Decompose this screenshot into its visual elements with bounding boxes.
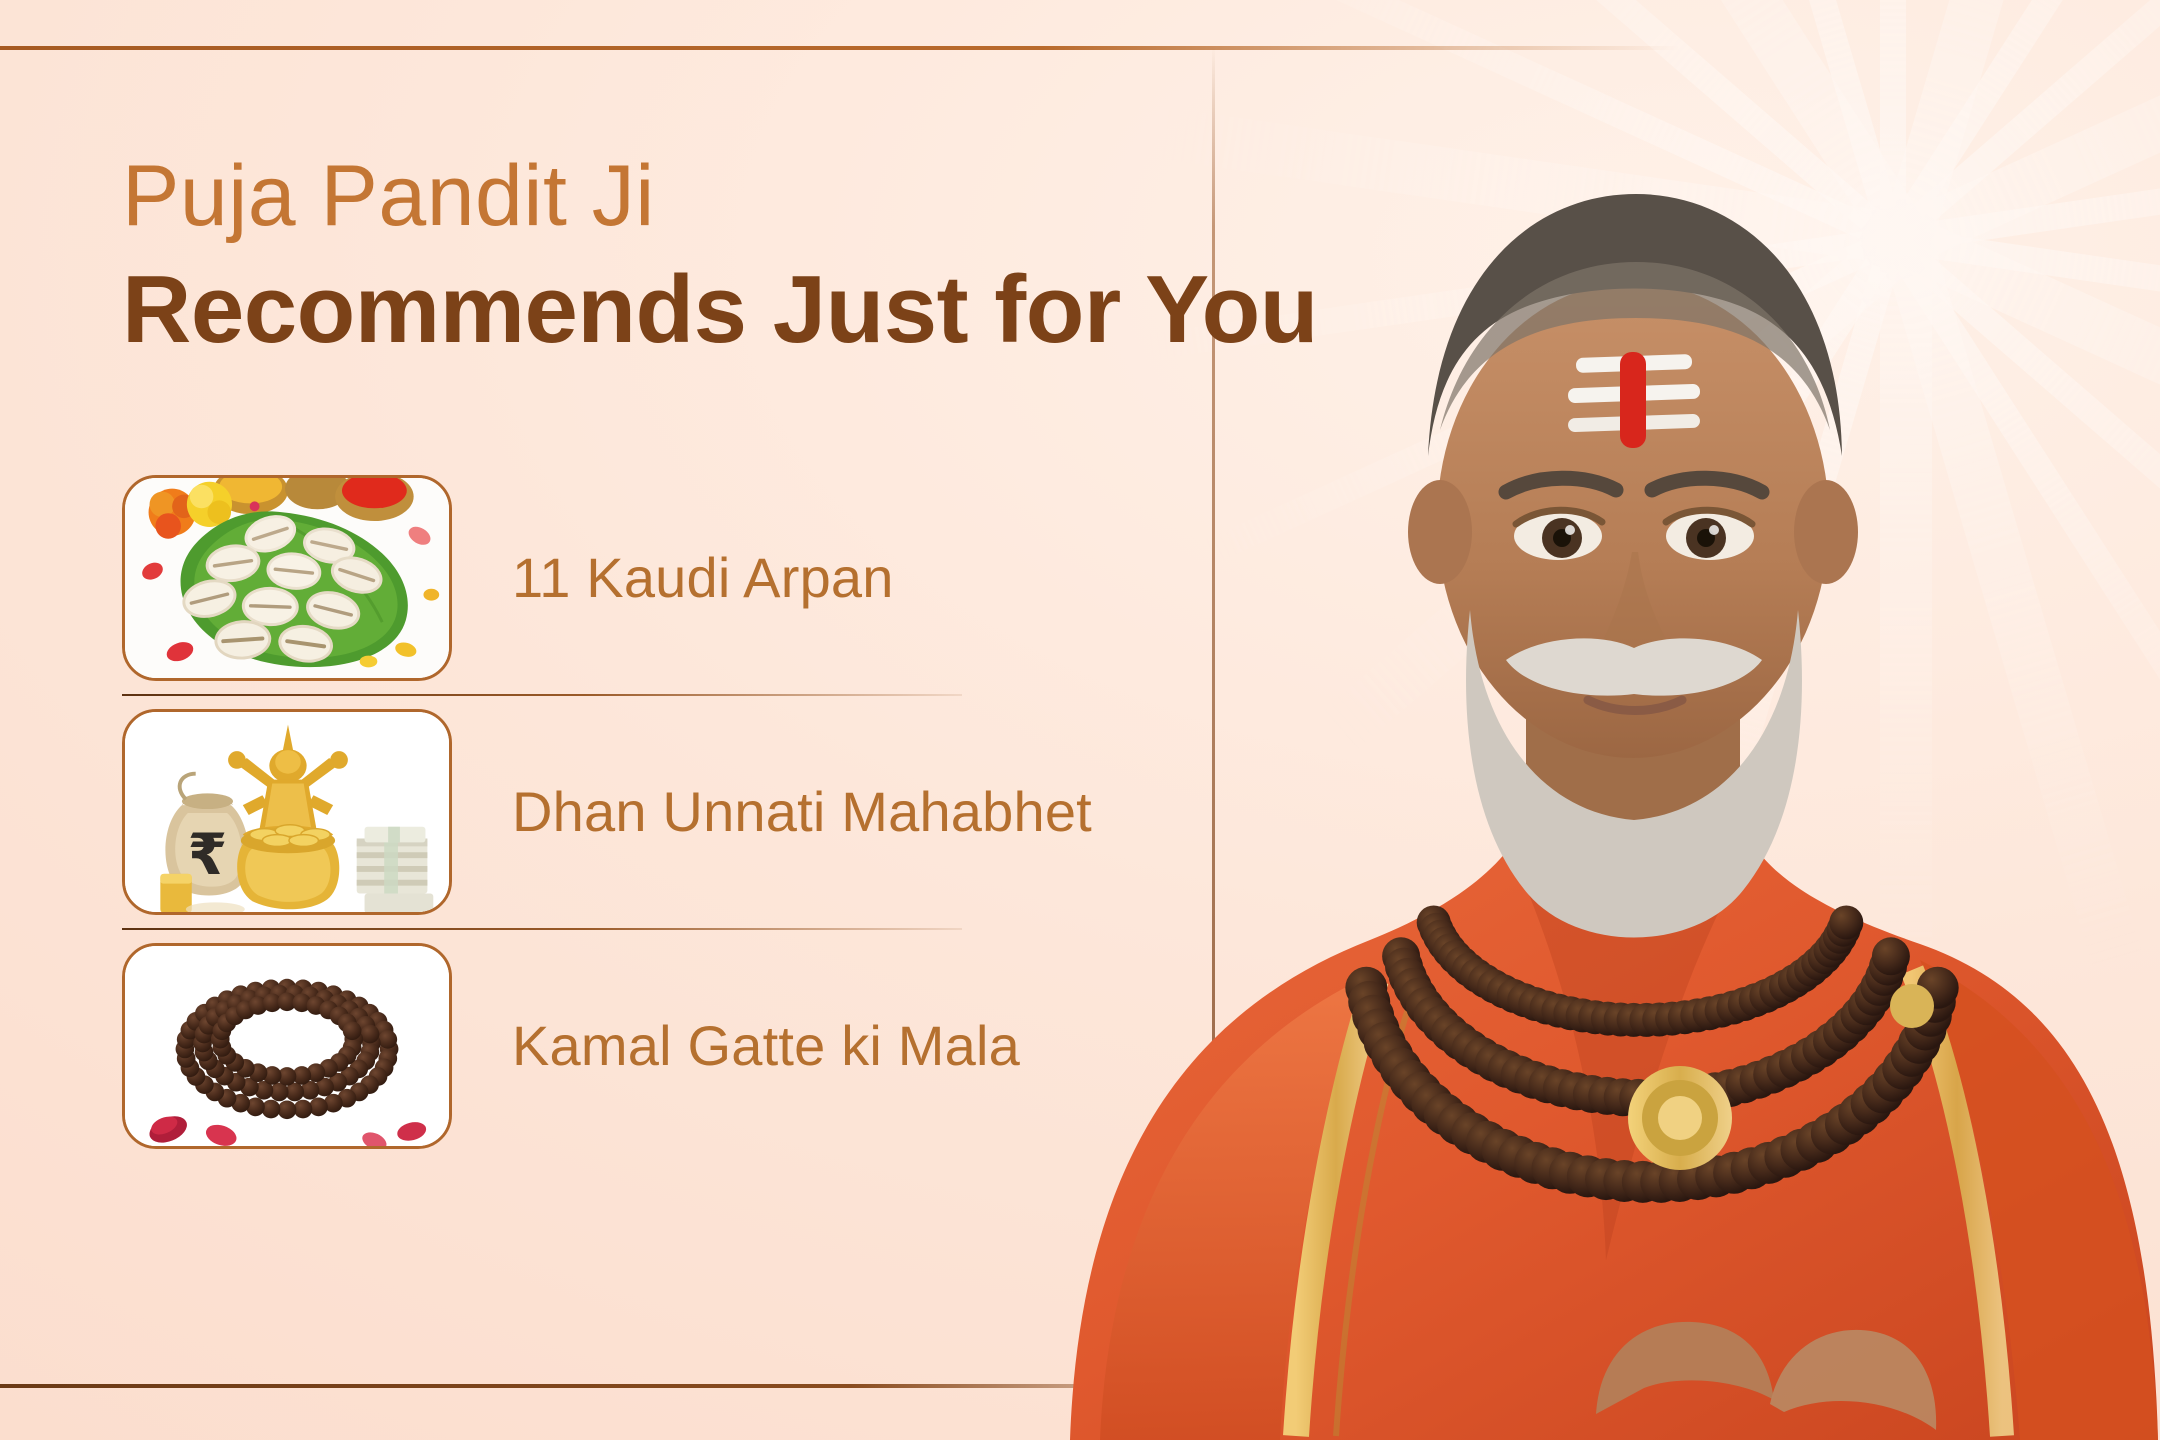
lotus-seed-bead-mala-thumbnail[interactable] [122, 943, 452, 1149]
list-item[interactable]: Kamal Gatte ki Mala [122, 930, 1182, 1162]
headline-line-1: Puja Pandit Ji [122, 150, 1182, 243]
bottom-divider-rule [0, 1384, 1215, 1388]
vertical-divider-rule [1212, 46, 1215, 1336]
svg-text:₹: ₹ [188, 822, 228, 888]
list-item-label: Dhan Unnati Mahabhet [512, 776, 1092, 848]
headline-block: Puja Pandit Ji Recommends Just for You [122, 150, 1182, 361]
list-item[interactable]: 11 Kaudi Arpan [122, 462, 1182, 694]
pandit-ji-portrait [1040, 0, 2160, 1440]
headline-line-2: Recommends Just for You [122, 259, 1182, 361]
list-item[interactable]: ₹ [122, 696, 1182, 928]
sunburst-rays-decoration [1080, 0, 2160, 1040]
list-item-label: Kamal Gatte ki Mala [512, 1010, 1020, 1082]
kaudi-shells-on-betel-leaf-thumbnail[interactable] [122, 475, 452, 681]
lakshmi-idol-money-bag-thumbnail[interactable]: ₹ [122, 709, 452, 915]
list-item-label: 11 Kaudi Arpan [512, 542, 894, 614]
recommendation-list: 11 Kaudi Arpan ₹ [122, 462, 1182, 1162]
recommendation-banner: Puja Pandit Ji Recommends Just for You [0, 0, 2160, 1440]
top-divider-rule [0, 46, 1680, 50]
